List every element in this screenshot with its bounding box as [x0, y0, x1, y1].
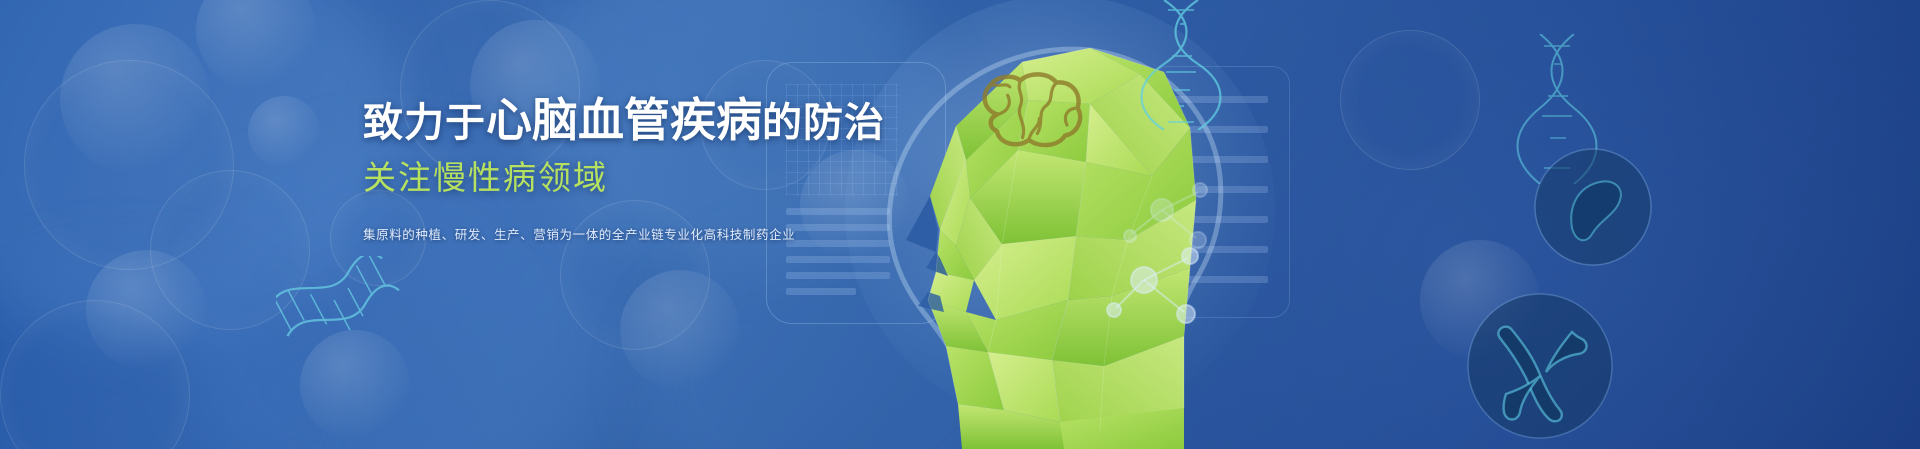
- headline-part-2: 的防治: [762, 101, 885, 145]
- bokeh-circle: [620, 270, 740, 390]
- bokeh-circle: [60, 24, 210, 174]
- dna-helix-icon: [1516, 34, 1600, 184]
- page-subtitle: 关注慢性病领域: [363, 160, 1123, 196]
- hero-banner: 致力于心脑血管疾病的防治 关注慢性病领域 集原料的种植、研发、生产、营销为一体的…: [0, 0, 1920, 449]
- bokeh-circle: [196, 0, 316, 90]
- bokeh-circle: [0, 300, 190, 449]
- dna-helix-icon: [276, 256, 406, 366]
- cell-icon: [1528, 142, 1658, 272]
- background-glow: [0, 250, 300, 449]
- headline-part-1: 致力于: [363, 101, 486, 145]
- bokeh-circle: [248, 96, 320, 168]
- background-glow: [0, 0, 400, 340]
- bokeh-circle: [150, 170, 310, 330]
- banner-copy: 致力于心脑血管疾病的防治 关注慢性病领域 集原料的种植、研发、生产、营销为一体的…: [363, 96, 1123, 243]
- bokeh-circle: [24, 60, 234, 270]
- page-tagline: 集原料的种植、研发、生产、营销为一体的全产业链专业化高科技制药企业: [363, 224, 1123, 243]
- bokeh-circle: [300, 330, 410, 440]
- page-title: 致力于心脑血管疾病的防治: [363, 96, 1123, 146]
- bokeh-circle: [86, 250, 206, 370]
- headline-emphasis: 心脑血管疾病: [486, 94, 762, 146]
